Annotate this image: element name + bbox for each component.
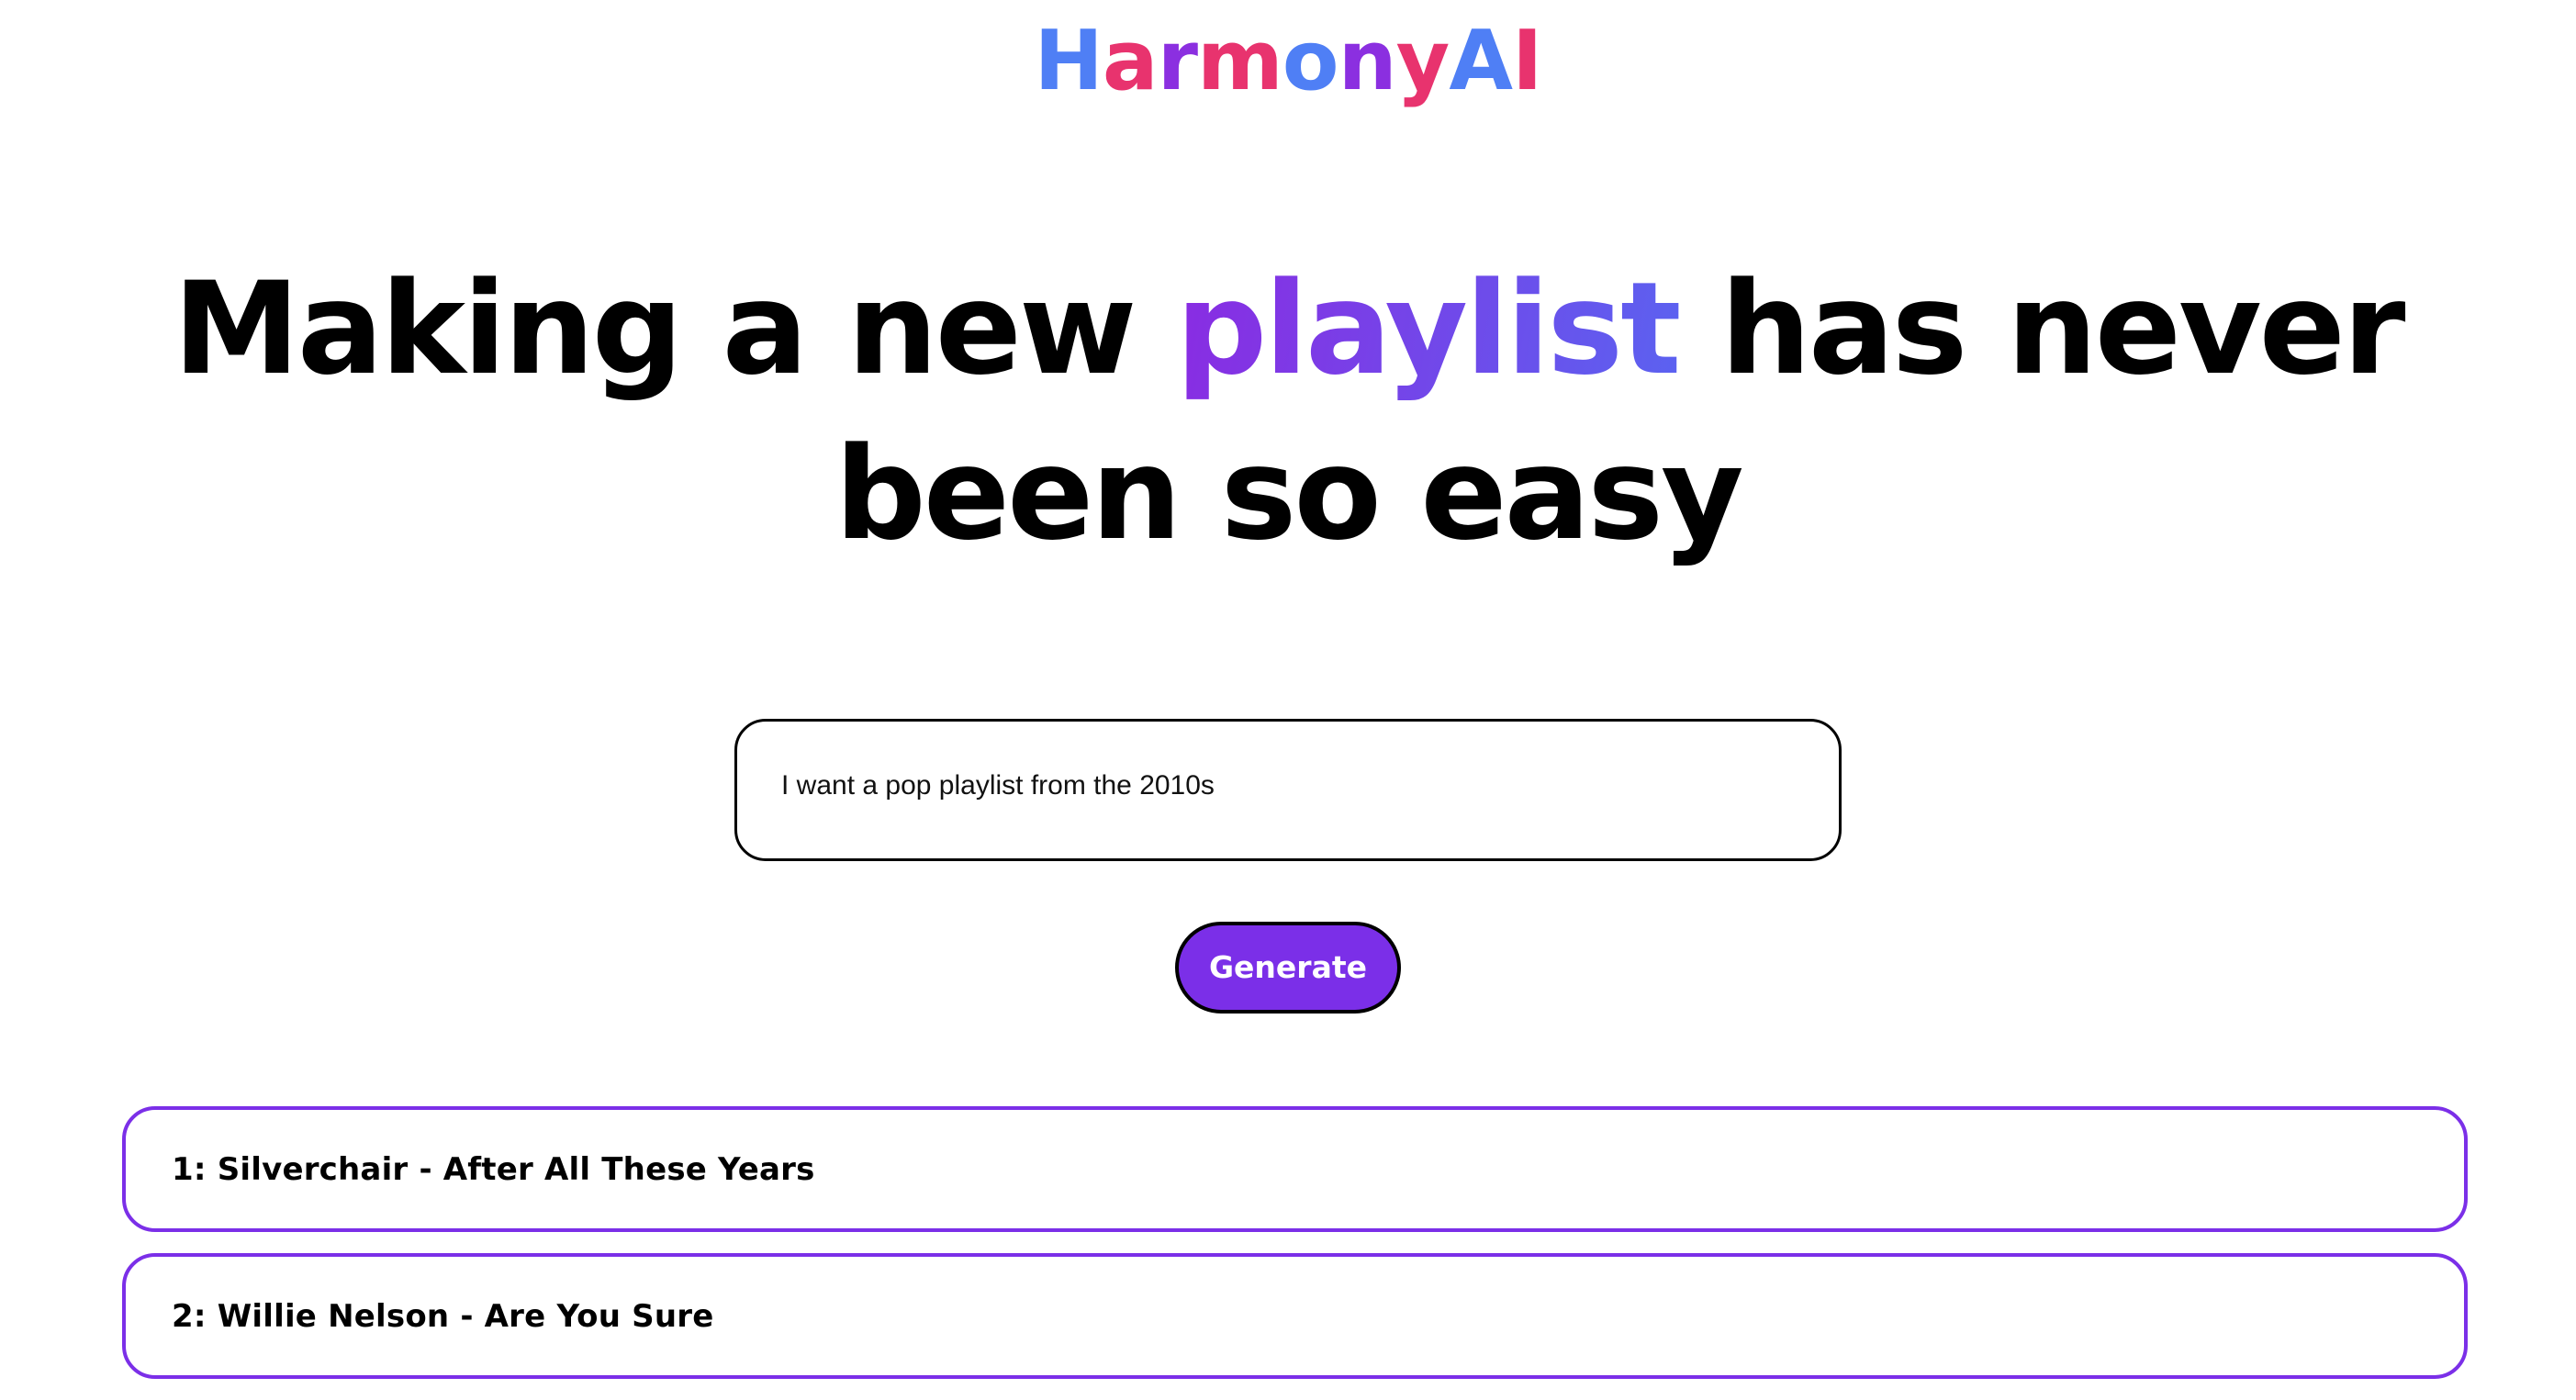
- headline-accent-word: playlist: [1176, 254, 1679, 403]
- logo-letter: m: [1197, 13, 1282, 109]
- track-label: 1: Silverchair - After All These Years: [172, 1151, 815, 1188]
- logo-letter: y: [1396, 13, 1450, 109]
- logo-letter: r: [1158, 13, 1197, 109]
- logo-letter: n: [1338, 13, 1396, 109]
- logo-letter: I: [1512, 13, 1542, 109]
- logo-letter: H: [1035, 13, 1103, 109]
- generate-button-container: Generate: [0, 922, 2576, 1014]
- track-label: 2: Willie Nelson - Are You Sure: [172, 1298, 713, 1335]
- headline-part-1: Making a new: [174, 254, 1176, 403]
- list-item[interactable]: 2: Willie Nelson - Are You Sure: [122, 1253, 2468, 1379]
- app-logo: HarmonyAI: [0, 0, 2576, 103]
- playlist-results: 1: Silverchair - After All These Years 2…: [122, 1106, 2468, 1400]
- prompt-textarea[interactable]: [734, 719, 1842, 861]
- generate-button[interactable]: Generate: [1175, 922, 1401, 1014]
- logo-letter: o: [1282, 13, 1338, 109]
- page-title: Making a new playlist has never been so …: [0, 246, 2576, 577]
- logo-letter: A: [1449, 13, 1512, 109]
- logo-letter: a: [1103, 13, 1158, 109]
- prompt-input-container: [734, 719, 1842, 861]
- list-item[interactable]: 1: Silverchair - After All These Years: [122, 1106, 2468, 1232]
